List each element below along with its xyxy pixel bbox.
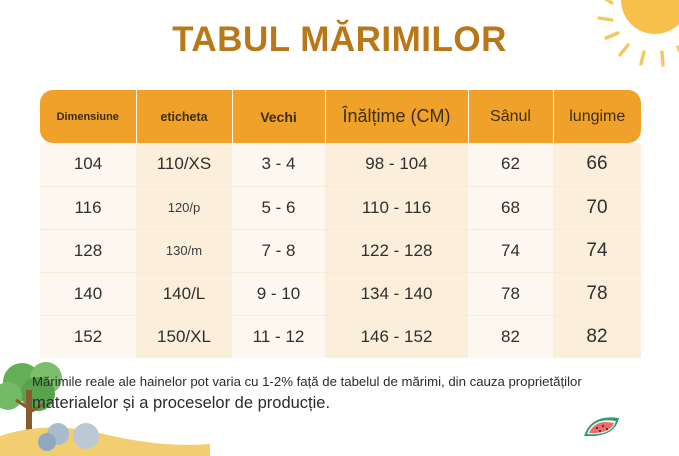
column-header-vechi: Vechi: [232, 90, 325, 143]
page-title: TABUL MĂRIMILOR: [0, 20, 679, 60]
cell-sanul: 78: [468, 272, 553, 315]
cell-eticheta: 120/p: [136, 186, 232, 229]
cell-sanul: 68: [468, 186, 553, 229]
column-header-dimensiune: Dimensiune: [40, 90, 136, 143]
size-chart-table-wrapper: Dimensiune eticheta Vechi Înălțime (CM) …: [40, 90, 641, 358]
table-row: 152 150/XL 11 - 12 146 - 152 82 82: [40, 315, 641, 358]
column-header-sanul: Sânul: [468, 90, 553, 143]
cell-lungime: 66: [553, 143, 641, 186]
cell-eticheta: 140/L: [136, 272, 232, 315]
cell-inaltime: 146 - 152: [325, 315, 468, 358]
table-row: 104 110/XS 3 - 4 98 - 104 62 66: [40, 143, 641, 186]
cell-dimensiune: 152: [40, 315, 136, 358]
table-header: Dimensiune eticheta Vechi Înălțime (CM) …: [40, 90, 641, 143]
cell-lungime: 78: [553, 272, 641, 315]
cell-lungime: 70: [553, 186, 641, 229]
table-body: 104 110/XS 3 - 4 98 - 104 62 66 116 120/…: [40, 143, 641, 358]
cell-inaltime: 110 - 116: [325, 186, 468, 229]
footnote-line-1: Mărimile reale ale hainelor pot varia cu…: [32, 372, 647, 391]
cell-lungime: 82: [553, 315, 641, 358]
cell-inaltime: 122 - 128: [325, 229, 468, 272]
ground-icon: [0, 414, 210, 456]
table-row: 128 130/m 7 - 8 122 - 128 74 74: [40, 229, 641, 272]
size-chart-table: Dimensiune eticheta Vechi Înălțime (CM) …: [40, 90, 641, 358]
cell-inaltime: 134 - 140: [325, 272, 468, 315]
footnote: Mărimile reale ale hainelor pot varia cu…: [32, 372, 647, 415]
table-row: 116 120/p 5 - 6 110 - 116 68 70: [40, 186, 641, 229]
cell-sanul: 74: [468, 229, 553, 272]
column-header-inaltime: Înălțime (CM): [325, 90, 468, 143]
cell-vechi: 7 - 8: [232, 229, 325, 272]
watermelon-icon: [581, 412, 623, 442]
cell-vechi: 3 - 4: [232, 143, 325, 186]
cell-lungime: 74: [553, 229, 641, 272]
footnote-line-2: materialelor și a proceselor de producți…: [32, 392, 647, 415]
column-header-eticheta: eticheta: [136, 90, 232, 143]
cell-sanul: 82: [468, 315, 553, 358]
cell-dimensiune: 104: [40, 143, 136, 186]
cell-vechi: 11 - 12: [232, 315, 325, 358]
cell-inaltime: 98 - 104: [325, 143, 468, 186]
column-header-lungime: lungime: [553, 90, 641, 143]
cell-dimensiune: 116: [40, 186, 136, 229]
cell-eticheta: 110/XS: [136, 143, 232, 186]
cell-dimensiune: 140: [40, 272, 136, 315]
table-header-row: Dimensiune eticheta Vechi Înălțime (CM) …: [40, 90, 641, 143]
cell-eticheta: 130/m: [136, 229, 232, 272]
cell-vechi: 5 - 6: [232, 186, 325, 229]
cell-eticheta: 150/XL: [136, 315, 232, 358]
cell-dimensiune: 128: [40, 229, 136, 272]
table-row: 140 140/L 9 - 10 134 - 140 78 78: [40, 272, 641, 315]
cell-sanul: 62: [468, 143, 553, 186]
cell-vechi: 9 - 10: [232, 272, 325, 315]
